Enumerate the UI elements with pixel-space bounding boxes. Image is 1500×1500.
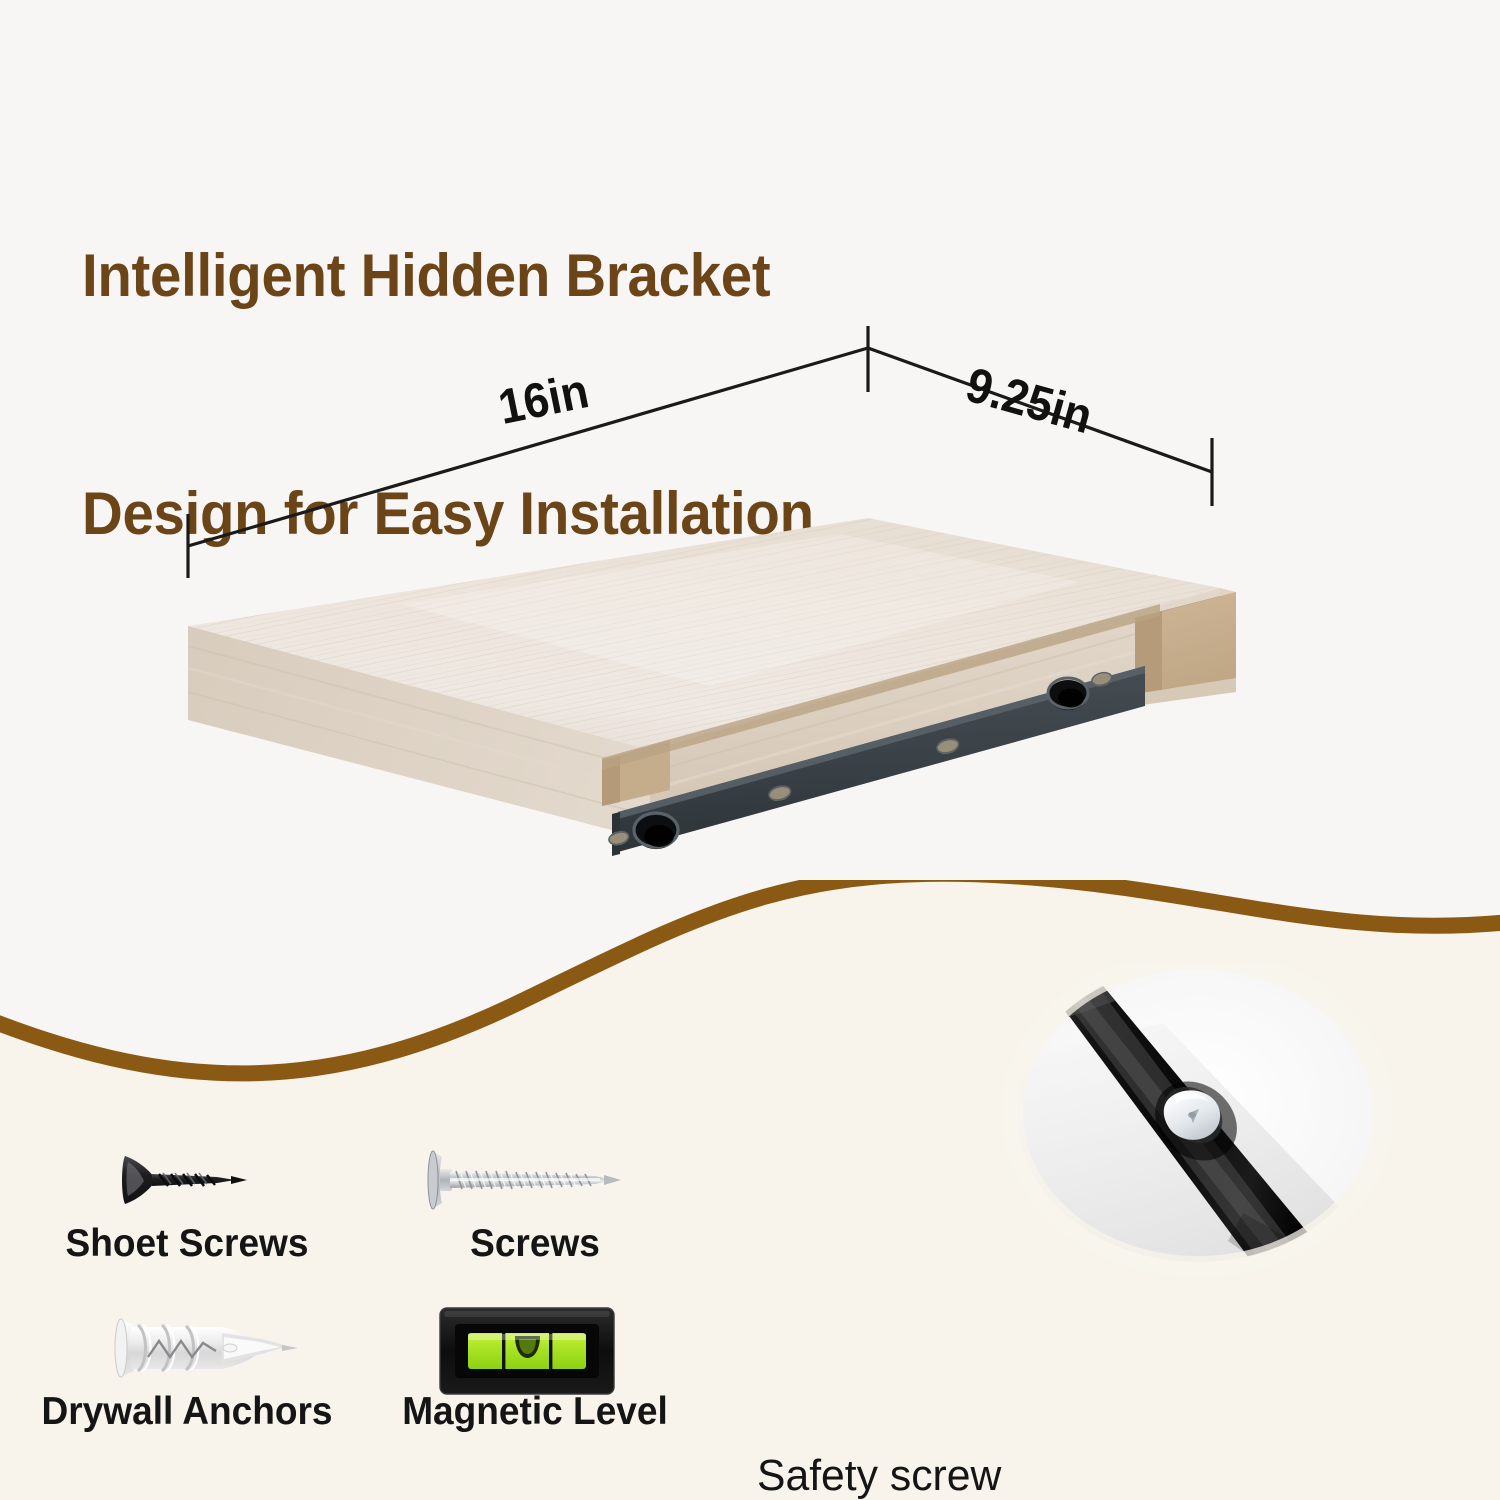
product-infographic-page: Intelligent Hidden Bracket Design for Ea…	[0, 0, 1500, 1500]
black-bugle-head-screw-icon	[119, 1146, 259, 1216]
safety-screw-caption-line-1: Safety screw	[757, 1447, 1360, 1500]
accessory-label-drywall-anchors: Drywall Anchors	[9, 1390, 364, 1434]
product-illustration	[150, 320, 1300, 920]
safety-screw-caption: Safety screw Keep the shelf securely in …	[757, 1330, 1360, 1500]
accessory-label-screws: Screws	[357, 1222, 712, 1266]
white-plastic-drywall-anchor-icon	[112, 1305, 312, 1390]
page-title-line-1: Intelligent Hidden Bracket	[82, 236, 1022, 315]
dimension-lines	[188, 326, 1212, 578]
accessory-label-shoet-screws: Shoet Screws	[9, 1222, 364, 1266]
accessory-label-magnetic-level: Magnetic Level	[357, 1390, 712, 1434]
magnetic-bubble-level-icon	[438, 1302, 616, 1400]
bracket-mounting-hole-right	[1048, 678, 1088, 710]
bracket-mounting-hole-left	[634, 813, 678, 849]
silver-washer-head-screw-icon	[424, 1145, 624, 1215]
safety-screw-closeup-photo	[1003, 963, 1393, 1293]
